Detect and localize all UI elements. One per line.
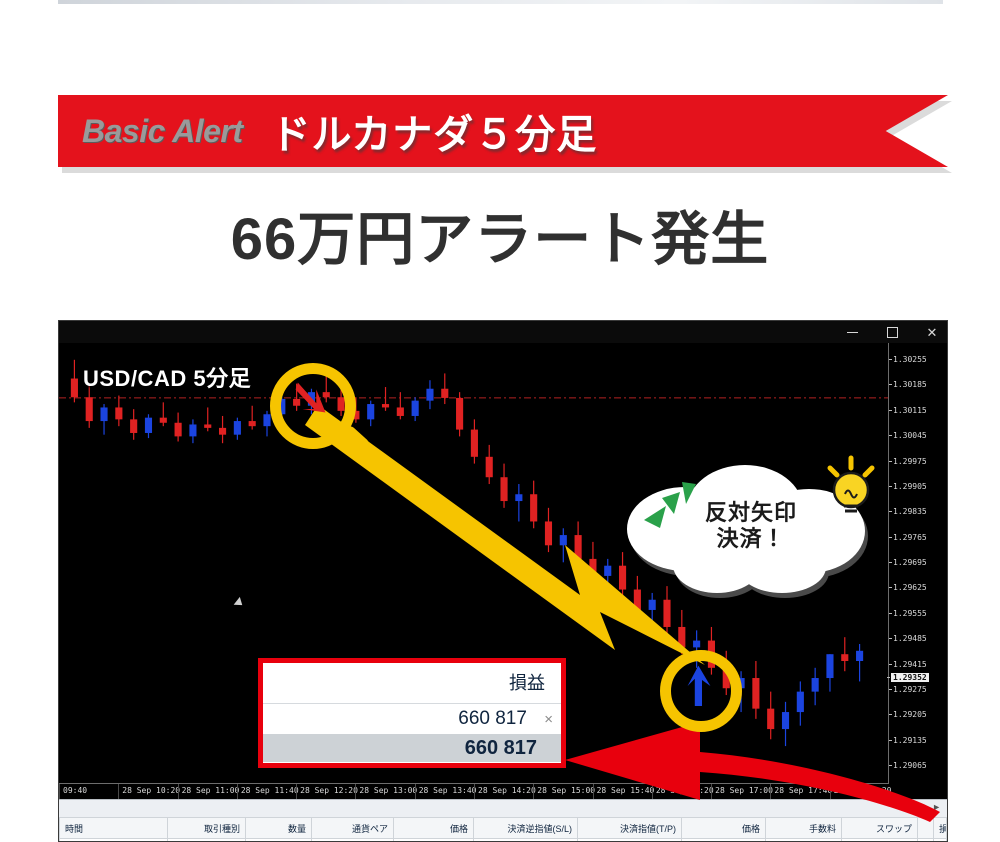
col-close-price[interactable]: 価格: [682, 818, 766, 839]
time-axis[interactable]: 09:4028 Sep 10:2028 Sep 11:0028 Sep 11:4…: [59, 783, 889, 800]
time-tick: 28 Sep 15:00: [537, 786, 595, 795]
cell-commission: 0: [766, 839, 842, 842]
page-title: 66万円アラート発生: [0, 192, 1000, 276]
candle: [812, 678, 819, 692]
cell-sl: 0.00000: [474, 839, 578, 842]
price-tick: 1.29065: [893, 761, 927, 770]
time-tick: 28 Sep 18:20: [834, 786, 892, 795]
candle: [175, 423, 182, 437]
col-price[interactable]: 価格: [394, 818, 474, 839]
price-tick: 1.29765: [893, 533, 927, 542]
candle: [130, 419, 137, 433]
candle: [663, 600, 670, 627]
candle: [782, 712, 789, 729]
col-commission[interactable]: 手数料: [766, 818, 842, 839]
horizontal-scrollbar[interactable]: ◄ ►: [59, 799, 947, 818]
candle: [841, 654, 848, 661]
cell-swap: 0: [842, 839, 918, 842]
candle: [515, 494, 522, 501]
price-tick: 1.29485: [893, 634, 927, 643]
candle: [826, 654, 833, 678]
candle: [234, 421, 241, 435]
cell-type: sell: [168, 839, 246, 842]
cell-price: 1.30123: [394, 839, 474, 842]
popup-total: 660 817: [263, 734, 561, 762]
price-tick: 1.29905: [893, 482, 927, 491]
highlight-ring-exit: [660, 650, 742, 732]
time-tick: 28 Sep 16:20: [656, 786, 714, 795]
price-tick: 1.29205: [893, 710, 927, 719]
cell-spacer: [918, 839, 934, 842]
cell-tp: 0.00000: [578, 839, 682, 842]
candle: [456, 398, 463, 430]
candle: [249, 421, 256, 426]
cell-time: 2018.09.28 13:55:40: [60, 839, 168, 842]
maximize-icon[interactable]: [883, 323, 901, 341]
time-tick: 28 Sep 17:40: [774, 786, 832, 795]
candle: [752, 678, 759, 709]
price-tick: 1.29625: [893, 583, 927, 592]
banner-eyebrow: Basic Alert: [82, 113, 243, 150]
time-separator: [355, 784, 356, 800]
time-separator: [296, 784, 297, 800]
candle: [693, 641, 700, 648]
chart-symbol-label: USD/CAD 5分足: [83, 361, 251, 393]
price-tick: 1.30255: [893, 355, 927, 364]
time-separator: [118, 784, 119, 800]
price-tick: 1.29555: [893, 609, 927, 618]
candle: [441, 389, 448, 398]
time-separator: [533, 784, 534, 800]
price-tick: 1.30185: [893, 380, 927, 389]
candle: [382, 404, 389, 407]
candle: [160, 418, 167, 423]
price-tick: 1.29275: [893, 685, 927, 694]
banner: Basic Alert ドルカナダ５分足: [58, 95, 948, 167]
col-sl[interactable]: 決済逆指値(S/L): [474, 818, 578, 839]
scroll-right-icon[interactable]: ►: [932, 802, 941, 812]
time-separator: [178, 784, 179, 800]
price-tick: 1.29975: [893, 457, 927, 466]
cell-symbol: usdcad: [312, 839, 394, 842]
candle: [367, 404, 374, 419]
candle: [575, 535, 582, 559]
time-separator: [593, 784, 594, 800]
price-tick: 1.30115: [893, 406, 927, 415]
orders-table: 時間 取引種別 数量 通貨ペア 価格 決済逆指値(S/L) 決済指値(T/P) …: [59, 817, 947, 842]
time-tick: 28 Sep 14:20: [478, 786, 536, 795]
col-profit[interactable]: 損益: [934, 818, 947, 839]
candle: [767, 709, 774, 729]
candle: [589, 559, 596, 576]
time-separator: [474, 784, 475, 800]
price-tick: 1.29695: [893, 558, 927, 567]
time-tick: 28 Sep 17:00: [715, 786, 773, 795]
price-tick: 1.30045: [893, 431, 927, 440]
col-type[interactable]: 取引種別: [168, 818, 246, 839]
popup-header: 損益: [263, 663, 561, 704]
candle: [412, 401, 419, 416]
time-separator: [652, 784, 653, 800]
lightbulb-icon: [820, 454, 882, 520]
page-root: Basic Alert ドルカナダ５分足 66万円アラート発生 ✕ USD/CA…: [0, 0, 1000, 840]
candle: [471, 430, 478, 457]
callout-cloud: 反対矢印 決済！: [620, 462, 882, 602]
time-tick: 09:40: [63, 786, 87, 795]
price-tick: 1.29835: [893, 507, 927, 516]
time-separator: [711, 784, 712, 800]
candle: [71, 379, 78, 398]
candle: [86, 397, 93, 421]
price-axis[interactable]: 1.302551.301851.301151.300451.299751.299…: [888, 343, 947, 783]
price-tick: 1.29415: [893, 660, 927, 669]
col-spacer: [918, 818, 934, 839]
time-separator: [59, 784, 60, 800]
time-tick: 28 Sep 15:40: [597, 786, 655, 795]
time-separator: [415, 784, 416, 800]
cell-volume: 10.00: [246, 839, 312, 842]
scroll-left-icon[interactable]: ◄: [907, 802, 916, 812]
time-tick: 28 Sep 10:20: [122, 786, 180, 795]
table-row[interactable]: 2018.09.28 13:55:40 sell 10.00 usdcad 1.…: [60, 839, 947, 842]
window-titlebar: ✕: [59, 321, 947, 343]
candle: [678, 627, 685, 647]
profit-popup: 損益 660 817 × 660 817: [258, 658, 566, 768]
time-separator: [770, 784, 771, 800]
banner-title: ドルカナダ５分足: [271, 102, 598, 160]
candle: [545, 521, 552, 545]
candle: [219, 428, 226, 435]
cell-close-price: 1.29370: [682, 839, 766, 842]
col-tp[interactable]: 決済指値(T/P): [578, 818, 682, 839]
candle: [486, 457, 493, 477]
time-tick: 28 Sep 13:00: [359, 786, 417, 795]
close-icon[interactable]: ✕: [923, 323, 941, 341]
popup-value-row[interactable]: 660 817 ×: [263, 704, 561, 734]
popup-profit-value: 660 817: [458, 708, 527, 729]
current-price-tick: 1.29352: [891, 673, 929, 682]
candle: [797, 692, 804, 712]
candle: [397, 407, 404, 416]
callout-line-2: 決済！: [620, 526, 882, 552]
candle: [100, 407, 107, 421]
orders-panel: 時間 取引種別 数量 通貨ペア 価格 決済逆指値(S/L) 決済指値(T/P) …: [59, 817, 947, 842]
price-tick: 1.29135: [893, 736, 927, 745]
candle: [856, 651, 863, 661]
candle: [560, 535, 567, 545]
col-swap[interactable]: スワップ: [842, 818, 918, 839]
col-time[interactable]: 時間: [60, 818, 168, 839]
time-tick: 28 Sep 13:40: [419, 786, 477, 795]
candle: [145, 418, 152, 433]
candle: [530, 494, 537, 521]
popup-close-icon[interactable]: ×: [544, 711, 553, 728]
candle: [115, 407, 122, 419]
time-separator: [830, 784, 831, 800]
col-volume[interactable]: 数量: [246, 818, 312, 839]
candle: [263, 414, 270, 426]
candle: [426, 389, 433, 401]
time-tick: 28 Sep 11:40: [241, 786, 299, 795]
time-tick: 28 Sep 11:00: [182, 786, 240, 795]
candle: [500, 477, 507, 501]
col-symbol[interactable]: 通貨ペア: [312, 818, 394, 839]
time-tick: 28 Sep 12:20: [300, 786, 358, 795]
candle: [604, 566, 611, 576]
time-separator: [237, 784, 238, 800]
top-strip: [58, 0, 943, 4]
minimize-icon[interactable]: [843, 323, 861, 341]
table-header-row: 時間 取引種別 数量 通貨ペア 価格 決済逆指値(S/L) 決済指値(T/P) …: [60, 818, 947, 839]
cell-profit[interactable]: 660 817 ×: [934, 839, 947, 842]
candle: [204, 424, 211, 427]
candle: [189, 424, 196, 436]
